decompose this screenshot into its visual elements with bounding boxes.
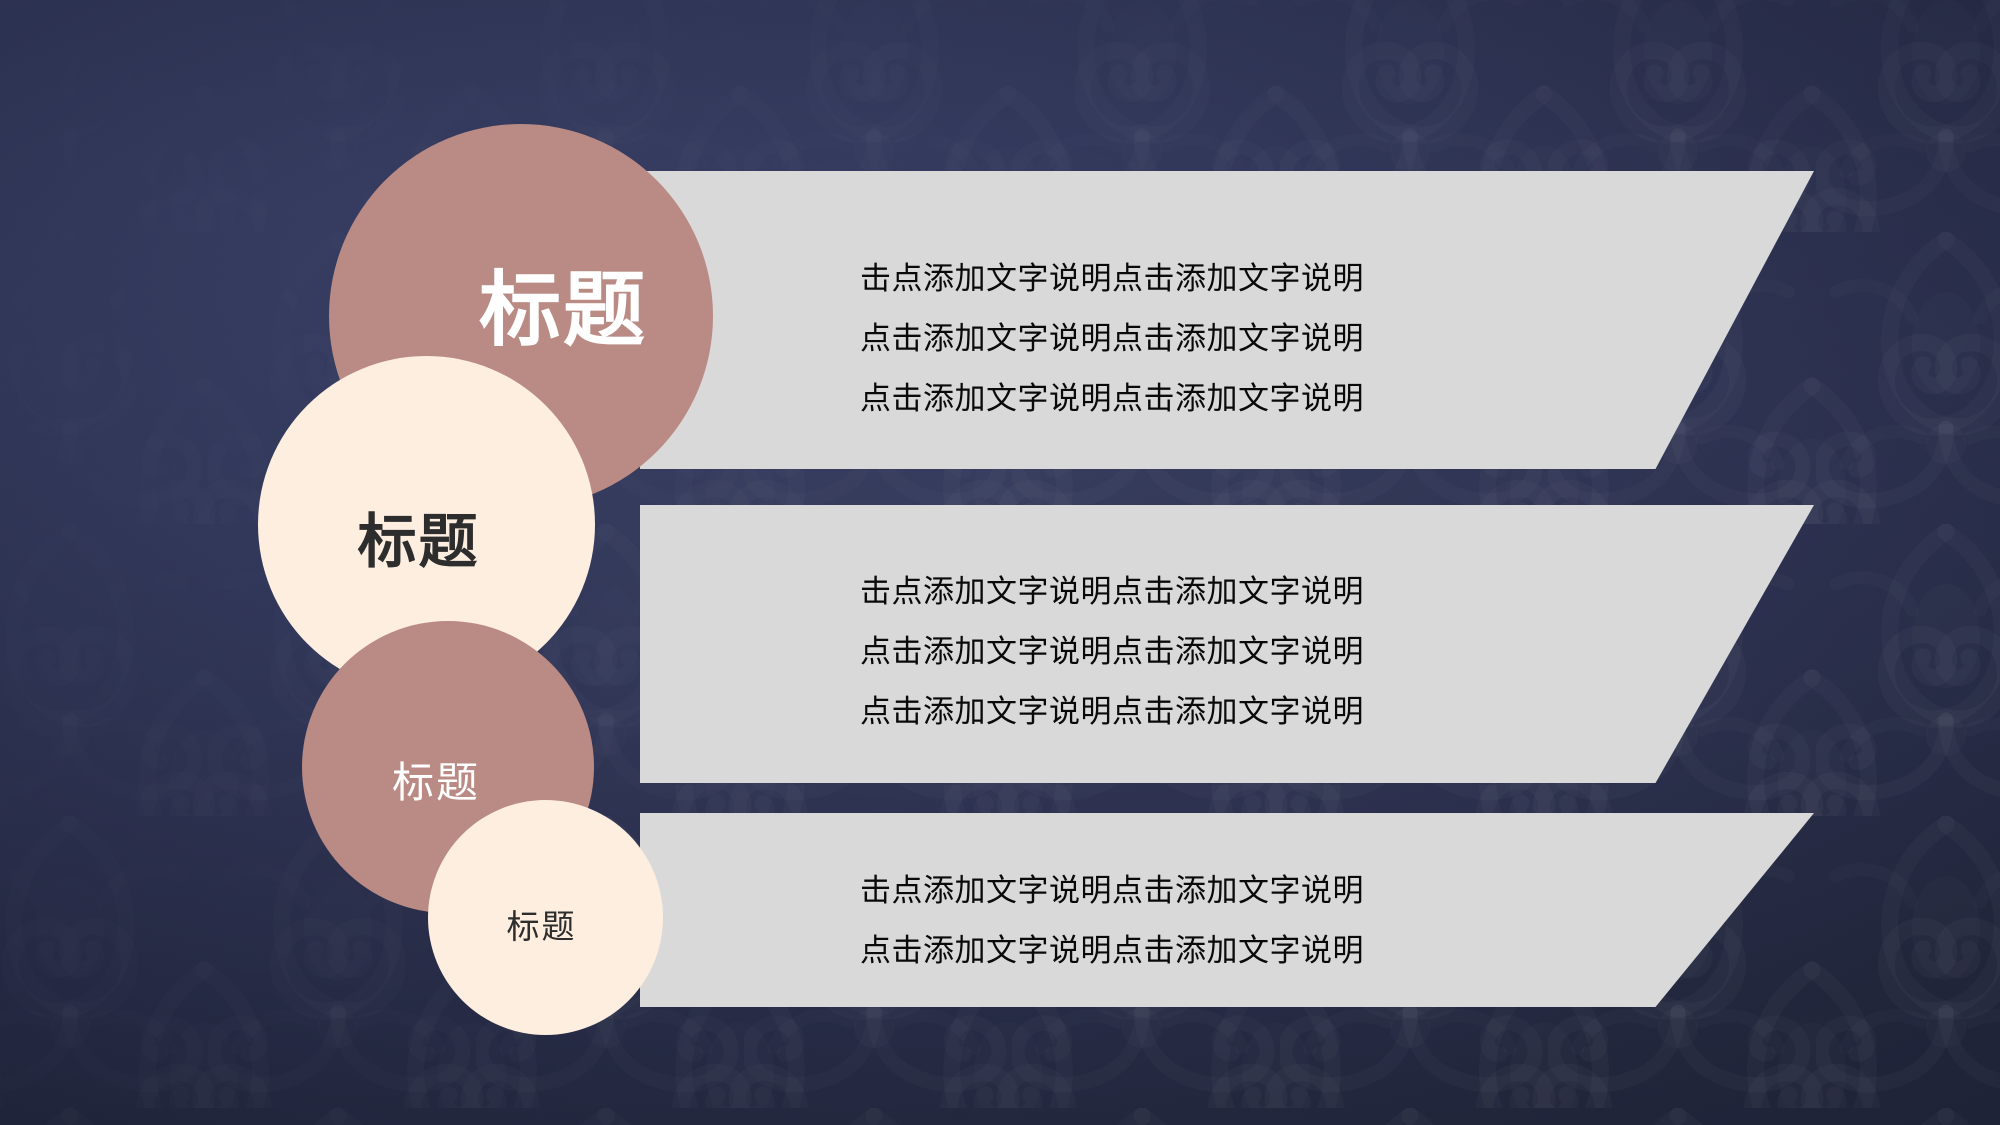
presentation-slide: 击点添加文字说明点击添加文字说明 点击添加文字说明点击添加文字说明 点击添加文字… — [0, 0, 2000, 1125]
content-panel-1[interactable]: 击点添加文字说明点击添加文字说明 点击添加文字说明点击添加文字说明 点击添加文字… — [640, 171, 1814, 469]
content-panel-3[interactable]: 击点添加文字说明点击添加文字说明 点击添加文字说明点击添加文字说明 — [640, 813, 1814, 1007]
panel-1-line-3: 点击添加文字说明点击添加文字说明 — [860, 369, 1364, 429]
panel-2-line-2: 点击添加文字说明点击添加文字说明 — [860, 622, 1364, 682]
title-circle-2-label: 标题 — [357, 494, 479, 579]
panel-2-line-3: 点击添加文字说明点击添加文字说明 — [860, 682, 1364, 742]
title-circle-4[interactable]: 标题 — [428, 800, 663, 1035]
title-circle-3-label: 标题 — [392, 749, 480, 810]
title-circle-1-label: 标题 — [479, 243, 647, 362]
panel-1-text-block: 击点添加文字说明点击添加文字说明 点击添加文字说明点击添加文字说明 点击添加文字… — [860, 249, 1364, 429]
panel-3-text-block: 击点添加文字说明点击添加文字说明 点击添加文字说明点击添加文字说明 — [860, 861, 1364, 981]
panel-2-text-block: 击点添加文字说明点击添加文字说明 点击添加文字说明点击添加文字说明 点击添加文字… — [860, 562, 1364, 742]
panel-1-line-1: 击点添加文字说明点击添加文字说明 — [860, 249, 1364, 309]
title-circle-4-label: 标题 — [507, 900, 577, 948]
panel-1-line-2: 点击添加文字说明点击添加文字说明 — [860, 309, 1364, 369]
panel-3-line-2: 点击添加文字说明点击添加文字说明 — [860, 921, 1364, 981]
content-panel-2[interactable]: 击点添加文字说明点击添加文字说明 点击添加文字说明点击添加文字说明 点击添加文字… — [640, 505, 1814, 783]
panel-3-line-1: 击点添加文字说明点击添加文字说明 — [860, 861, 1364, 921]
panel-2-line-1: 击点添加文字说明点击添加文字说明 — [860, 562, 1364, 622]
